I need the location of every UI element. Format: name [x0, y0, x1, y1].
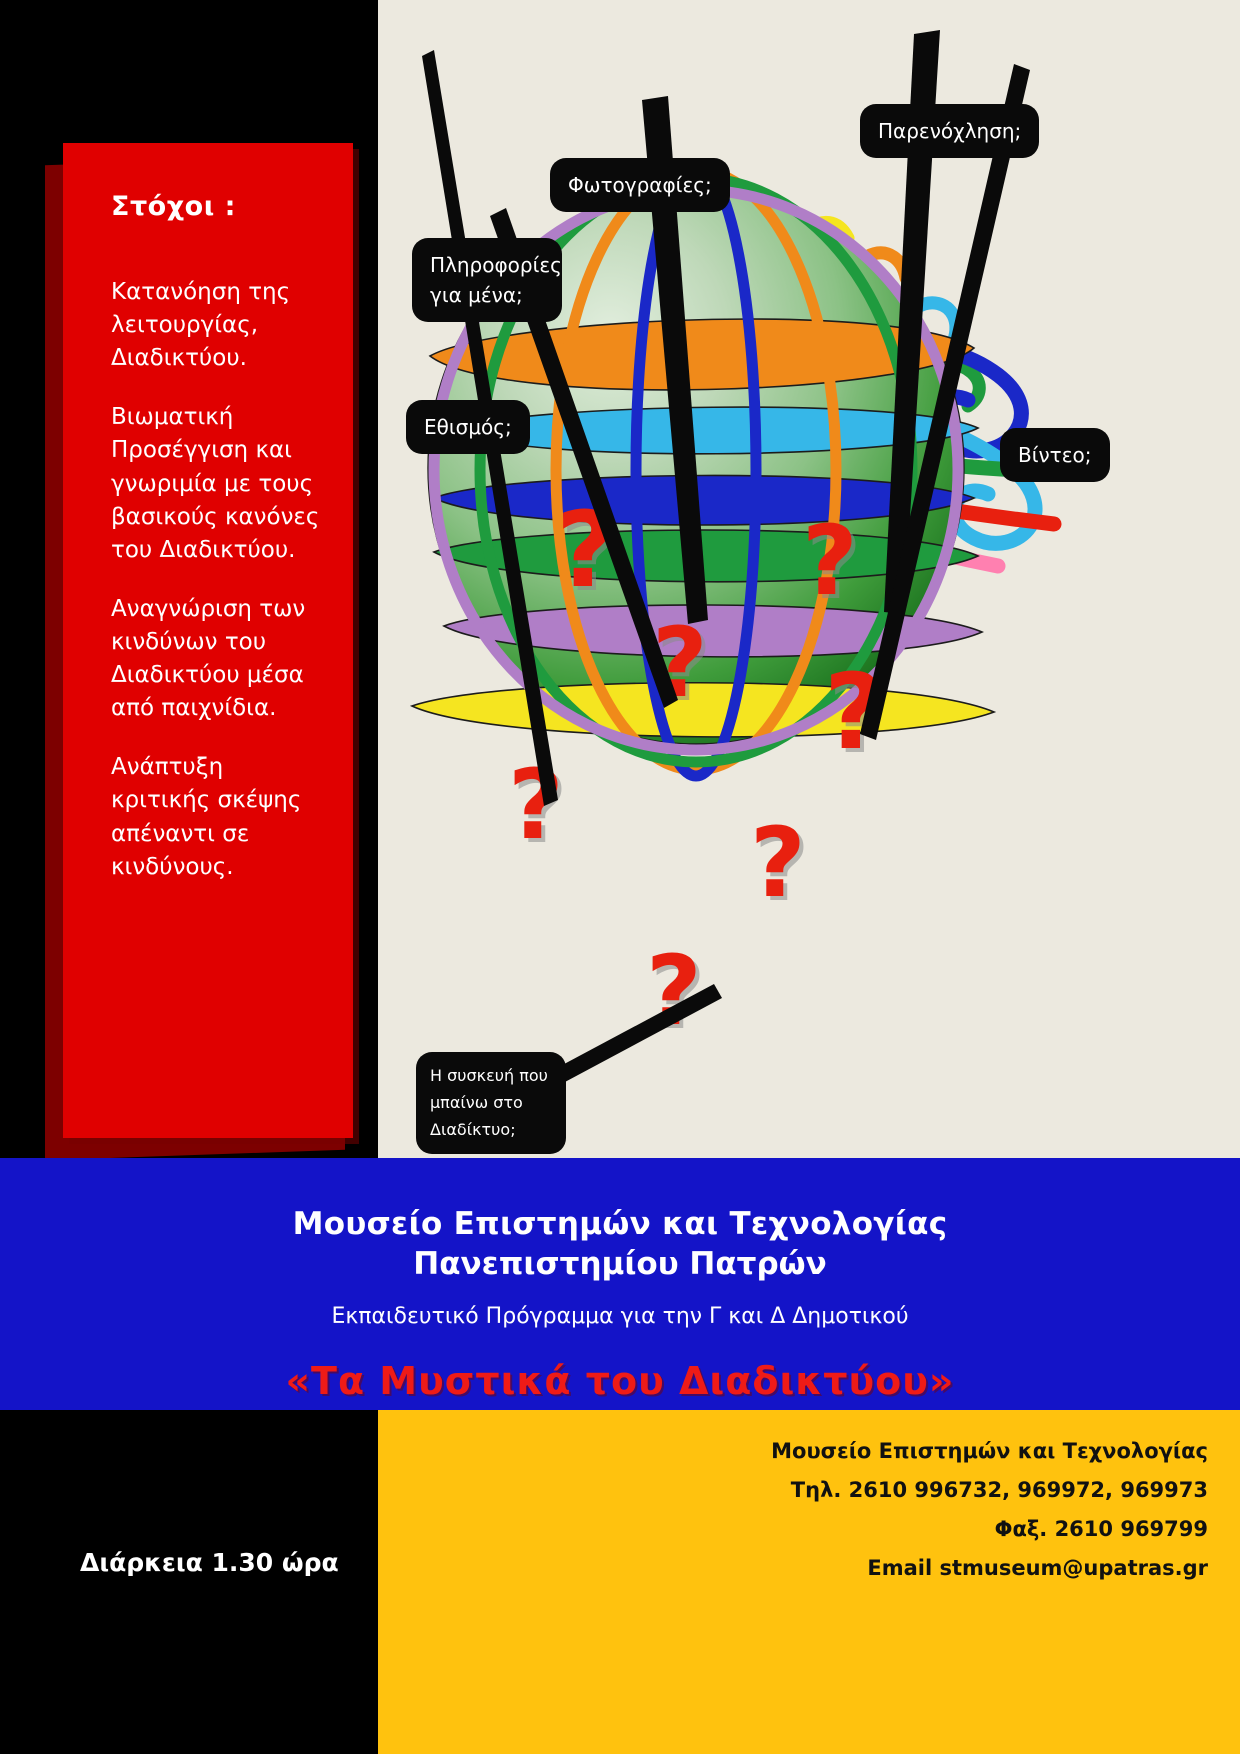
- globe-illustration: ? ? ? ? ? ? ? ? ? ? ? ? ? ?: [378, 0, 1240, 1158]
- museum-name-line2: Πανεπιστημίου Πατρών: [0, 1246, 1240, 1282]
- svg-text:?: ?: [508, 749, 564, 861]
- contact-details: Μουσείο Επιστημών και Τεχνολογίας Τηλ. 2…: [771, 1432, 1208, 1587]
- objective-item: Κατανόηση της λειτουργίας, Διαδικτύου.: [111, 276, 325, 375]
- bubble-info-about-me[interactable]: Πληροφορίες για μένα;: [412, 238, 562, 322]
- footer-left-block: [0, 1410, 378, 1754]
- duration-label: Διάρκεια 1.30 ώρα: [80, 1548, 339, 1577]
- svg-text:?: ?: [750, 807, 806, 919]
- poster-root: ? ? ? ? ? ? ? ? ? ? ? ? ? ?: [0, 0, 1240, 1754]
- objective-item: Βιωματική Προσέγγιση και γνωριμία με του…: [111, 401, 325, 567]
- program-title: «Τα Μυστικά του Διαδικτύου»: [0, 1359, 1240, 1403]
- objective-item: Ανάπτυξη κριτικής σκέψης απέναντι σε κιν…: [111, 751, 325, 883]
- objective-item: Αναγνώριση των κινδύνων του Διαδικτύου μ…: [111, 593, 325, 725]
- bubble-addiction[interactable]: Εθισμός;: [406, 400, 530, 454]
- bubble-video[interactable]: Βίντεο;: [1000, 428, 1110, 482]
- objectives-title: Στόχοι :: [111, 191, 325, 222]
- contact-line-phone: Τηλ. 2610 996732, 969972, 969973: [771, 1471, 1208, 1510]
- contact-line-museum: Μουσείο Επιστημών και Τεχνολογίας: [771, 1432, 1208, 1471]
- bubble-photos[interactable]: Φωτογραφίες;: [550, 158, 730, 212]
- bubble-device[interactable]: Η συσκευή που μπαίνω στο Διαδίκτυο;: [416, 1052, 566, 1154]
- contact-block: Μουσείο Επιστημών και Τεχνολογίας Τηλ. 2…: [378, 1410, 1240, 1754]
- museum-banner: Μουσείο Επιστημών και Τεχνολογίας Πανεπι…: [0, 1158, 1240, 1410]
- illustration-stage: ? ? ? ? ? ? ? ? ? ? ? ? ? ?: [378, 0, 1240, 1158]
- program-subtitle: Εκπαιδευτικό Πρόγραμμα για την Γ και Δ Δ…: [0, 1304, 1240, 1329]
- svg-text:?: ?: [802, 505, 858, 617]
- footer: Διάρκεια 1.30 ώρα Μουσείο Επιστημών και …: [0, 1410, 1240, 1754]
- objectives-panel: Στόχοι : Κατανόηση της λειτουργίας, Διαδ…: [63, 143, 353, 1138]
- museum-name-line1: Μουσείο Επιστημών και Τεχνολογίας: [0, 1158, 1240, 1242]
- contact-line-email[interactable]: Email stmuseum@upatras.gr: [771, 1549, 1208, 1588]
- bubble-harassment[interactable]: Παρενόχληση;: [860, 104, 1039, 158]
- contact-line-fax: Φαξ. 2610 969799: [771, 1510, 1208, 1549]
